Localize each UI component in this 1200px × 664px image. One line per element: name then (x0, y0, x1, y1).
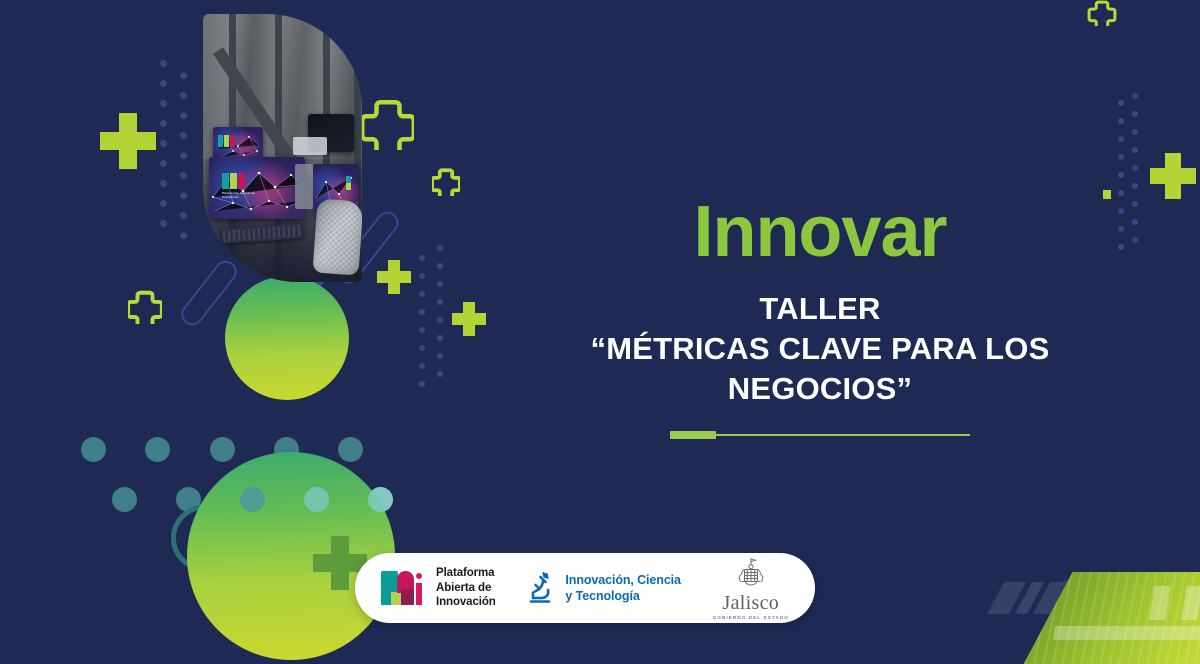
pai-logo-on-screen (218, 135, 235, 147)
pai-logo-icon (381, 571, 427, 605)
pai-logo-text: Plataforma Abierta de Innovación (436, 566, 496, 609)
office-chair (312, 198, 362, 275)
pai-line-3: Innovación (436, 595, 496, 609)
blade-highlight-bar (1053, 626, 1200, 640)
screen-caption: Plataforma Abierta de Innovación (222, 192, 256, 200)
monitor-primary: Plataforma Abierta de Innovación (209, 157, 305, 219)
event-kicker: TALLER (560, 290, 1080, 328)
jalisco-coat-of-arms-icon (733, 557, 769, 587)
divider-thin-segment (716, 434, 970, 436)
ict-logo-text: Innovación, Ciencia y Tecnología (565, 572, 681, 605)
brand-title: Innovar (560, 196, 1080, 268)
logo-innovacion-ciencia-y-tecnologia[interactable]: Innovación, Ciencia y Tecnología (527, 570, 681, 606)
ict-line-1: Innovación, Ciencia (565, 572, 681, 588)
poster-canvas: Plataforma Abierta de Innovación (0, 0, 1200, 664)
microscope-icon (527, 570, 557, 606)
tech-workspace-photo: Plataforma Abierta de Innovación (203, 14, 362, 282)
logo-plataforma-abierta-de-innovacion[interactable]: Plataforma Abierta de Innovación (381, 566, 496, 609)
event-title-line-1: “MÉTRICAS CLAVE PARA LOS (560, 330, 1080, 368)
event-title-line-2: NEGOCIOS” (560, 370, 1080, 408)
pai-line-2: Abierta de (436, 581, 496, 595)
title-divider (670, 431, 970, 439)
pai-line-1: Plataforma (436, 566, 496, 580)
divider-thick-segment (670, 431, 716, 439)
jalisco-subtitle: GOBIERNO DEL ESTADO (713, 615, 789, 620)
desk-cabinet (293, 137, 327, 155)
pai-logo-on-screen (346, 176, 351, 190)
ict-line-2: y Tecnología (565, 588, 681, 604)
headline-block: Innovar TALLER “MÉTRICAS CLAVE PARA LOS … (560, 196, 1080, 439)
desk-pc-tower (295, 164, 313, 209)
logo-jalisco-gobierno-del-estado[interactable]: Jalisco GOBIERNO DEL ESTADO (713, 557, 789, 620)
monitor-secondary (213, 127, 263, 161)
pai-logo-on-screen (222, 173, 245, 189)
partner-logo-bar: Plataforma Abierta de Innovación (355, 553, 815, 623)
jalisco-name: Jalisco (713, 593, 789, 613)
